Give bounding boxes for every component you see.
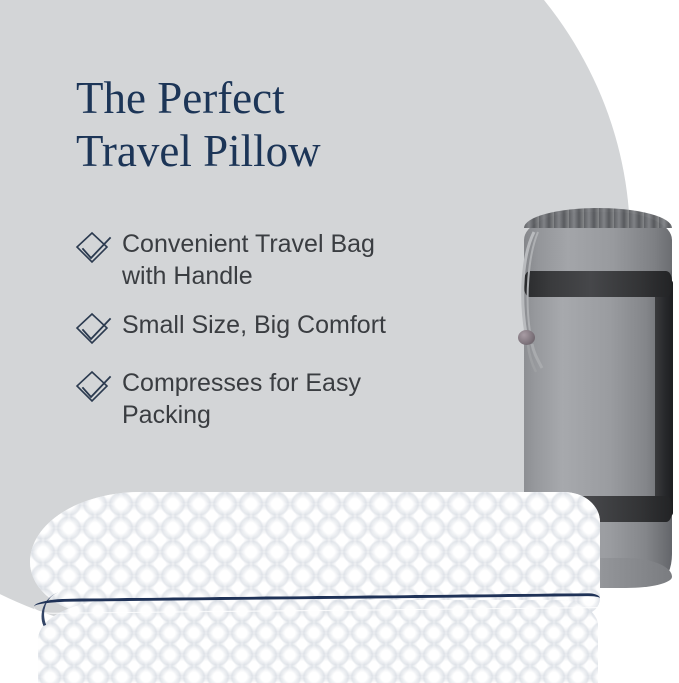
list-item-label: Small Size, Big Comfort [114, 309, 482, 341]
feature-list: Convenient Travel Bag with Handle Small … [72, 228, 482, 448]
pillow-front-face [38, 600, 598, 683]
list-item: Convenient Travel Bag with Handle [72, 228, 482, 292]
pillow-image [30, 492, 600, 683]
list-item: Small Size, Big Comfort [72, 309, 482, 350]
list-item-label: Compresses for Easy Packing [114, 367, 482, 431]
diamond-check-icon [72, 368, 114, 408]
bag-cord-toggle [518, 330, 535, 345]
product-feature-graphic: The Perfect Travel Pillow Convenient Tra… [0, 0, 679, 683]
diamond-check-icon [72, 229, 114, 269]
diamond-check-icon [72, 310, 114, 350]
pillow-quilt-texture-front [38, 600, 598, 683]
list-item-label: Convenient Travel Bag with Handle [114, 228, 482, 292]
page-title: The Perfect Travel Pillow [76, 72, 496, 178]
list-item: Compresses for Easy Packing [72, 367, 482, 431]
